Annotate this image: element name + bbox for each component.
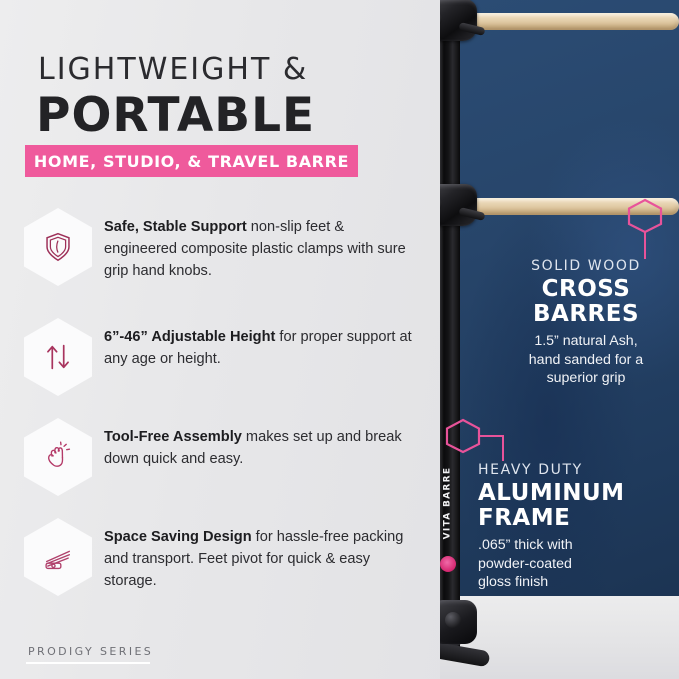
feature-icon-hexagon-1 bbox=[24, 208, 92, 286]
up-down-arrows-icon bbox=[42, 342, 74, 372]
page-title: PORTABLE bbox=[36, 88, 315, 143]
callout-kicker-cross-barres: SOLID WOOD bbox=[500, 258, 672, 274]
callout-hexagon-marker-cross-barres bbox=[625, 198, 665, 234]
series-tag-underline bbox=[26, 662, 150, 664]
callout-connector-line-cross-barres bbox=[644, 231, 646, 259]
callout-aluminum-frame: HEAVY DUTY ALUMINUM FRAME .065” thick wi… bbox=[478, 462, 674, 592]
feature-item-tool-free-assembly: Tool-Free Assembly makes set up and brea… bbox=[24, 418, 419, 496]
callout-body-cross-barres-line2: hand sanded for a bbox=[500, 351, 672, 370]
feature-text-1: Safe, Stable Support non-slip feet & eng… bbox=[104, 208, 419, 283]
feature-text-3: Tool-Free Assembly makes set up and brea… bbox=[104, 418, 419, 471]
callout-body-cross-barres-line3: superior grip bbox=[500, 369, 672, 388]
folded-barre-icon bbox=[41, 542, 75, 572]
feature-bold-2: 6”-46” Adjustable Height bbox=[104, 329, 275, 345]
clamp-knob-bottom bbox=[440, 196, 442, 212]
feature-item-space-saving-design: Space Saving Design for hassle-free pack… bbox=[24, 518, 419, 596]
callout-title-cross-barres-line1: CROSS bbox=[500, 277, 672, 302]
feature-text-2: 6”-46” Adjustable Height for proper supp… bbox=[104, 318, 419, 371]
brand-flower-logo-icon bbox=[440, 556, 456, 572]
pole-brand-label: VITA BARRE bbox=[440, 455, 458, 550]
callout-title-aluminum-frame-line2: FRAME bbox=[478, 506, 674, 531]
subtitle-banner-text: HOME, STUDIO, & TRAVEL BARRE bbox=[34, 152, 349, 171]
callout-hexagon-marker-aluminum-frame bbox=[443, 418, 483, 454]
base-pivot-knob bbox=[445, 612, 461, 628]
feature-text-4: Space Saving Design for hassle-free pack… bbox=[104, 518, 419, 593]
waving-hand-icon bbox=[42, 441, 74, 473]
feature-icon-hexagon-3 bbox=[24, 418, 92, 496]
pole-brand-text: VITA BARRE bbox=[442, 466, 452, 539]
callout-body-aluminum-frame-line3: gloss finish bbox=[478, 573, 674, 592]
feature-item-adjustable-height: 6”-46” Adjustable Height for proper supp… bbox=[24, 318, 419, 396]
feature-bold-3: Tool-Free Assembly bbox=[104, 429, 242, 445]
callout-body-aluminum-frame-line2: powder-coated bbox=[478, 555, 674, 574]
series-tag: PRODIGY SERIES bbox=[28, 645, 153, 658]
clamp-knob-top bbox=[440, 11, 442, 27]
callout-title-cross-barres-line2: BARRES bbox=[500, 302, 672, 327]
feature-bold-4: Space Saving Design bbox=[104, 529, 252, 545]
callout-cross-barres: SOLID WOOD CROSS BARRES 1.5” natural Ash… bbox=[500, 258, 672, 388]
feature-icon-hexagon-2 bbox=[24, 318, 92, 396]
callout-body-cross-barres-line1: 1.5” natural Ash, bbox=[500, 332, 672, 351]
callout-kicker-aluminum-frame: HEAVY DUTY bbox=[478, 462, 674, 478]
callout-connector-line-aluminum-frame-horizontal bbox=[478, 435, 504, 437]
infographic-canvas: VITA BARRE LIGHTWEIGHT & PORTABLE HOME, … bbox=[0, 0, 679, 679]
feature-icon-hexagon-4 bbox=[24, 518, 92, 596]
feature-item-safe-stable-support: Safe, Stable Support non-slip feet & eng… bbox=[24, 208, 419, 286]
shield-icon bbox=[44, 232, 72, 262]
feature-bold-1: Safe, Stable Support bbox=[104, 219, 247, 235]
barre-clamp-bottom bbox=[440, 184, 477, 226]
barre-clamp-top bbox=[440, 0, 477, 41]
callout-title-aluminum-frame-line1: ALUMINUM bbox=[478, 481, 674, 506]
callout-connector-line-aluminum-frame-vertical bbox=[502, 435, 504, 461]
callout-body-aluminum-frame-line1: .065” thick with bbox=[478, 536, 674, 555]
wood-cross-barre-top bbox=[469, 13, 679, 30]
headline-line-1: LIGHTWEIGHT & bbox=[38, 52, 308, 87]
base-pivot-clamp bbox=[440, 600, 477, 644]
subtitle-banner: HOME, STUDIO, & TRAVEL BARRE bbox=[25, 145, 358, 177]
